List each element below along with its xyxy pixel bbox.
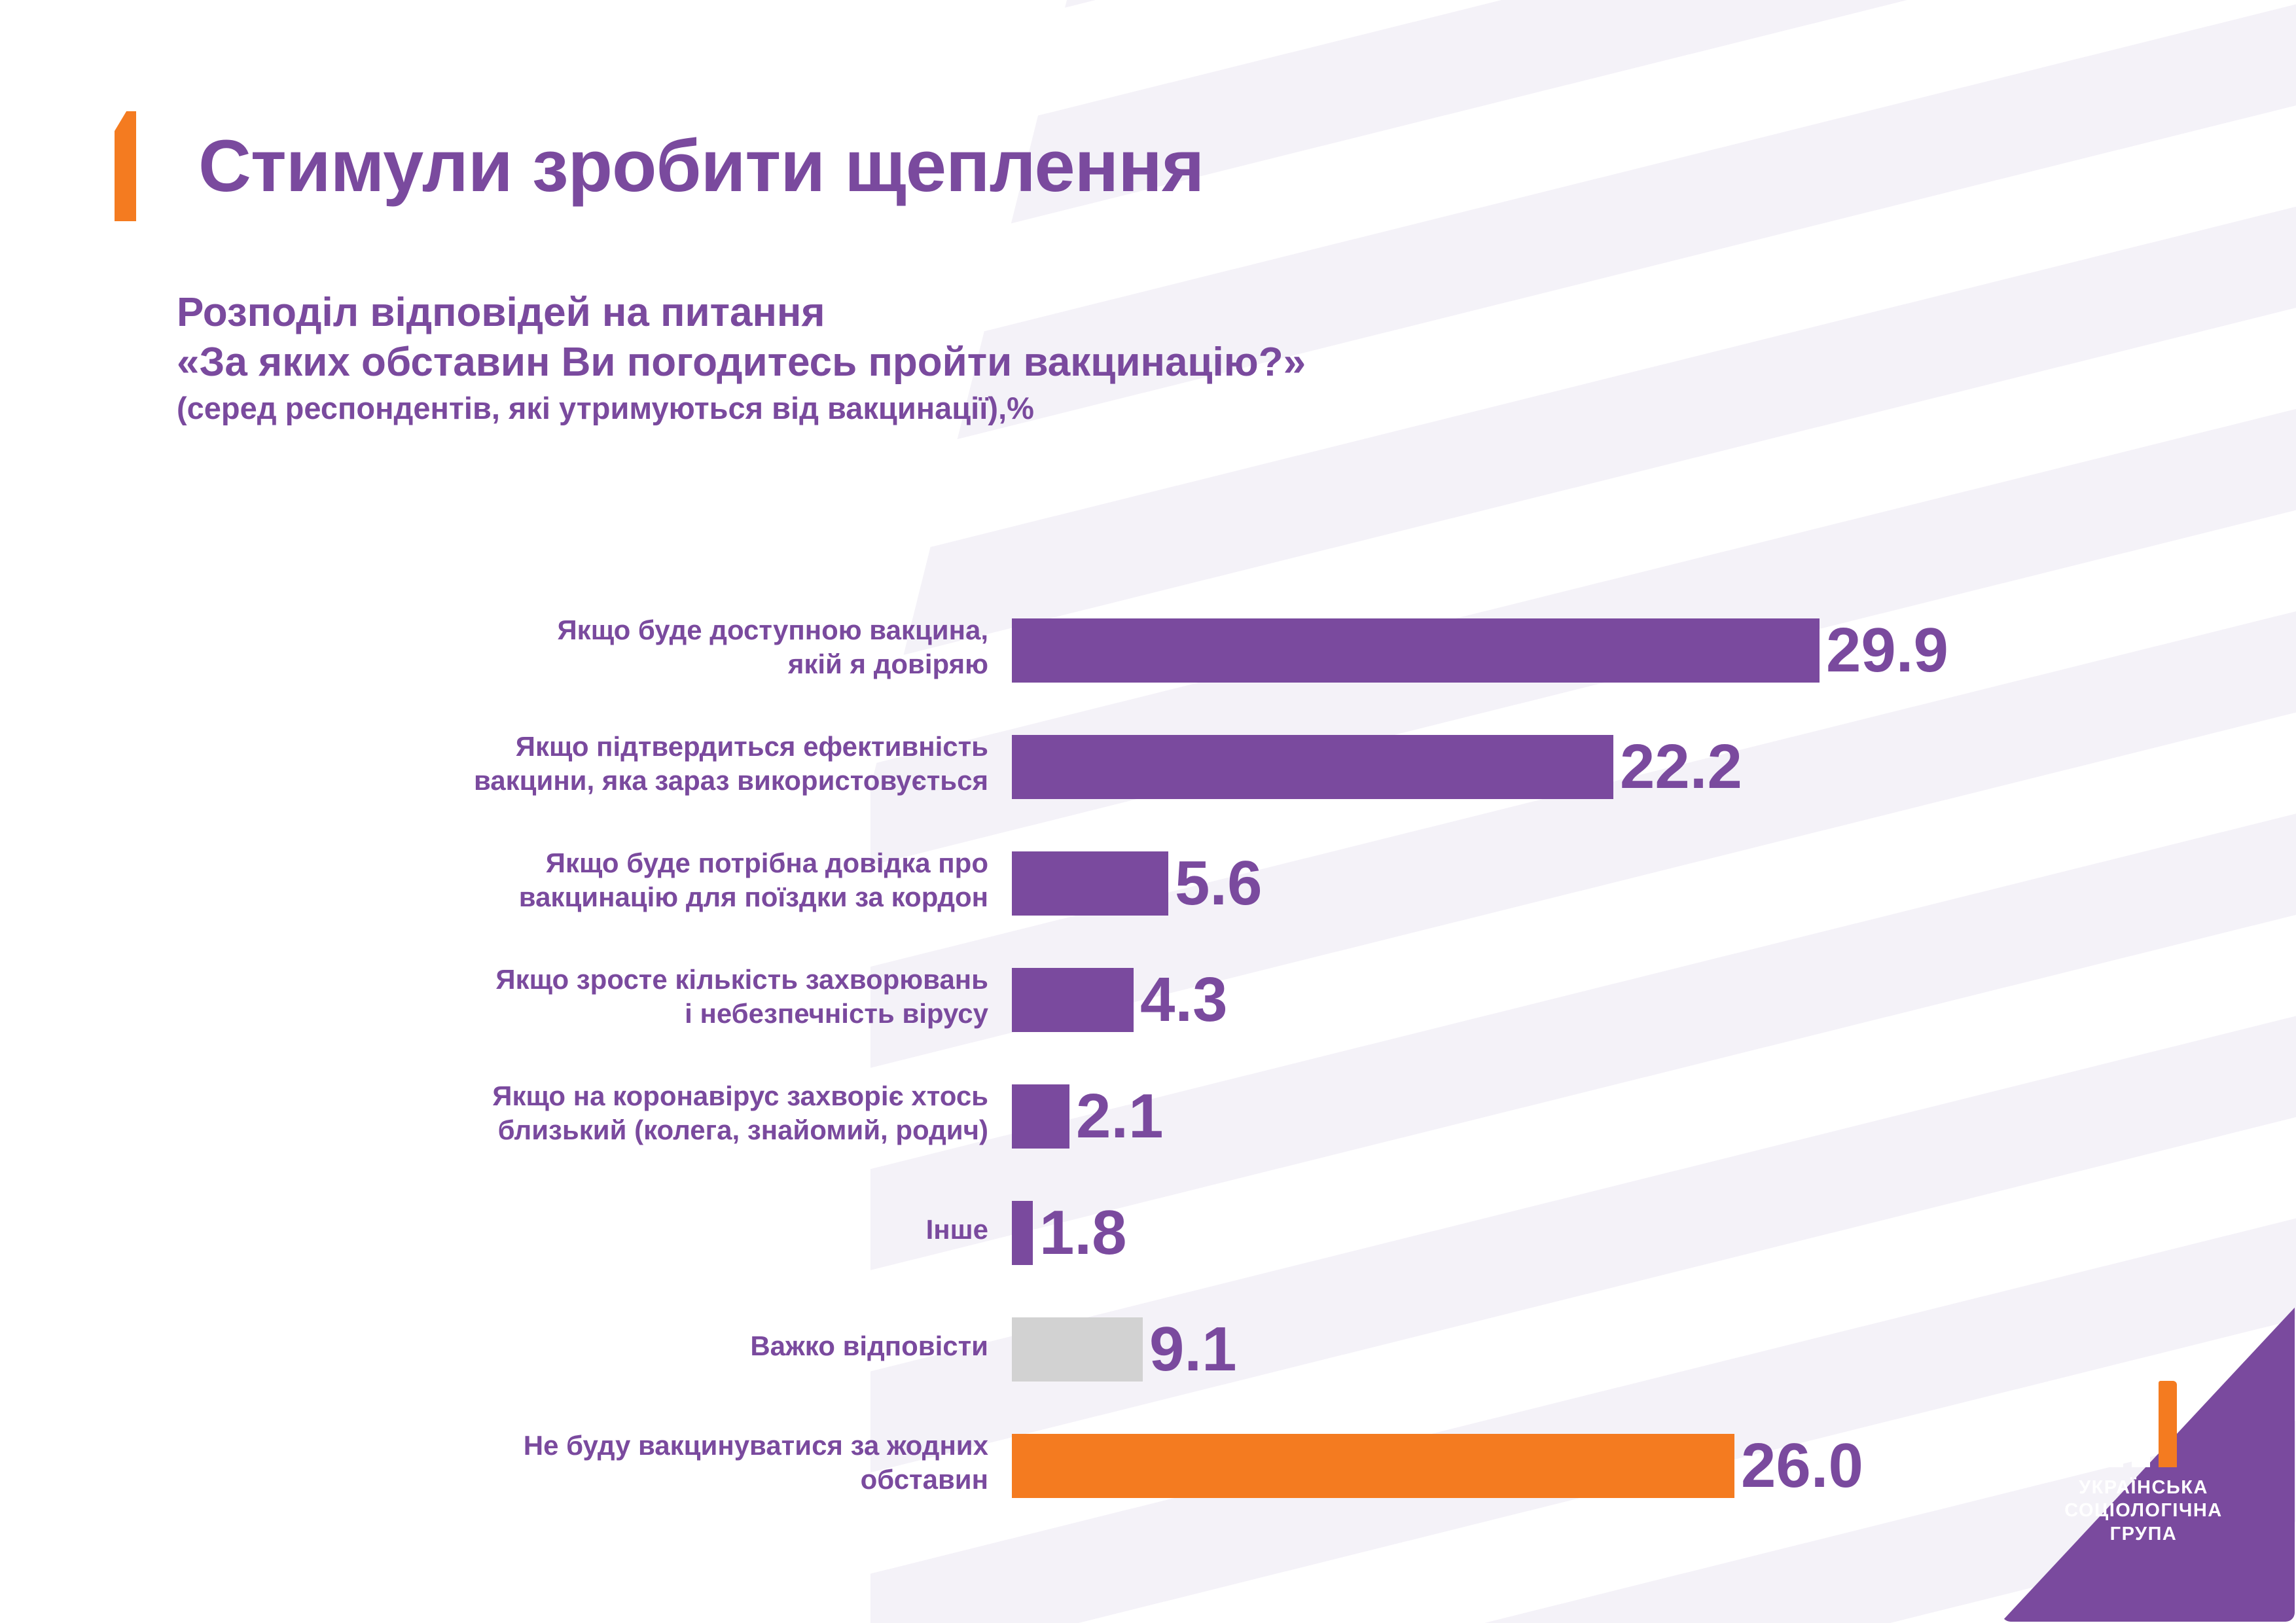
bar-category-label-line: вакцинацію для поїздки за кордон (281, 880, 988, 914)
title-row: Стимули зробити щеплення (115, 111, 1204, 221)
logo-bar-chart-icon (2105, 1381, 2177, 1467)
bar-value-label: 26.0 (1741, 1435, 1863, 1497)
bar-row: Якщо на коронавірус захворіє хтосьблизьк… (0, 1058, 2296, 1175)
bar-row: Інше1.8 (0, 1175, 2296, 1291)
subtitle-line-1: Розподіл відповідей на питання (177, 288, 1306, 338)
bar-track: 29.9 (1012, 618, 1948, 683)
bar (1012, 968, 1134, 1032)
bar-row: Важко відповісти9.1 (0, 1291, 2296, 1408)
bar (1012, 1434, 1734, 1498)
bar-value-label: 9.1 (1149, 1318, 1236, 1381)
bar-category-label: Якщо буде потрібна довідка провакцинацію… (281, 846, 988, 914)
bar-value-label: 22.2 (1620, 736, 1742, 798)
bar-category-label: Не буду вакцинуватися за жоднихобставин (281, 1429, 988, 1497)
bar (1012, 618, 1820, 683)
bar-track: 2.1 (1012, 1084, 1163, 1149)
subtitle-block: Розподіл відповідей на питання «За яких … (177, 288, 1306, 428)
bar-row: Якщо зросте кількість захворюваньі небез… (0, 942, 2296, 1058)
bar-category-label: Якщо підтвердиться ефективністьвакцини, … (281, 730, 988, 798)
bar-value-label: 1.8 (1039, 1202, 1126, 1264)
bar-category-label-line: Інше (281, 1213, 988, 1247)
bar-category-label-line: Не буду вакцинуватися за жодних (281, 1429, 988, 1463)
logo-bar-1 (2105, 1421, 2123, 1467)
orange-accent-tick-icon (115, 111, 136, 221)
logo-bar-3 (2159, 1381, 2177, 1467)
bar-value-label: 29.9 (1826, 619, 1948, 682)
bar-track: 26.0 (1012, 1434, 1863, 1498)
bar-value-label: 2.1 (1076, 1085, 1163, 1148)
logo-text: УКРАЇНСЬКА СОЦІОЛОГІЧНА ГРУПА (2001, 1476, 2295, 1546)
bar-track: 22.2 (1012, 735, 1742, 799)
bar-category-label-line: Якщо на коронавірус захворіє хтось (281, 1079, 988, 1113)
bar-category-label-line: Якщо буде потрібна довідка про (281, 846, 988, 880)
subtitle-line-2: «За яких обставин Ви погодитесь пройти в… (177, 338, 1306, 387)
bar-category-label-line: якій я довіряю (281, 647, 988, 681)
logo-text-line-3: ГРУПА (2001, 1523, 2286, 1546)
bar-category-label-line: і небезпечність вірусу (281, 997, 988, 1031)
bar (1012, 1084, 1069, 1149)
logo-text-line-1: УКРАЇНСЬКА (2001, 1476, 2286, 1499)
bar-category-label-line: Якщо підтвердиться ефективність (281, 730, 988, 764)
bar-value-label: 4.3 (1140, 969, 1227, 1031)
bar-category-label-line: Важко відповісти (281, 1329, 988, 1363)
page-title: Стимули зробити щеплення (198, 130, 1204, 203)
logo-ukrainian-sociological-group: УКРАЇНСЬКА СОЦІОЛОГІЧНА ГРУПА (2001, 1308, 2295, 1622)
bar-category-label-line: Якщо буде доступною вакцина, (281, 613, 988, 647)
logo-bar-2 (2132, 1400, 2150, 1467)
bar-category-label-line: близький (колега, знайомий, родич) (281, 1113, 988, 1147)
bar (1012, 851, 1168, 916)
bar-category-label: Якщо буде доступною вакцина,якій я довір… (281, 613, 988, 681)
bar-row: Якщо буде доступною вакцина,якій я довір… (0, 592, 2296, 709)
infographic-slide: Стимули зробити щеплення Розподіл відпов… (0, 0, 2296, 1623)
bar-category-label: Якщо зросте кількість захворюваньі небез… (281, 963, 988, 1031)
logo-text-line-2: СОЦІОЛОГІЧНА (2001, 1499, 2286, 1522)
subtitle-line-3: (серед респондентів, які утримуються від… (177, 389, 1306, 428)
bar-category-label-line: Якщо зросте кількість захворювань (281, 963, 988, 997)
bar-track: 5.6 (1012, 851, 1262, 916)
bar-category-label: Інше (281, 1213, 988, 1247)
bar-category-label: Важко відповісти (281, 1329, 988, 1363)
bar-row: Якщо буде потрібна довідка провакцинацію… (0, 825, 2296, 942)
bar-value-label: 5.6 (1175, 852, 1262, 915)
bar-category-label-line: вакцини, яка зараз використовується (281, 764, 988, 798)
bar-row: Якщо підтвердиться ефективністьвакцини, … (0, 709, 2296, 825)
bar-category-label-line: обставин (281, 1463, 988, 1497)
bar-track: 9.1 (1012, 1317, 1236, 1382)
bar (1012, 1201, 1033, 1265)
bar-category-label: Якщо на коронавірус захворіє хтосьблизьк… (281, 1079, 988, 1147)
bar-track: 1.8 (1012, 1201, 1126, 1265)
bar (1012, 735, 1613, 799)
bar-row: Не буду вакцинуватися за жоднихобставин2… (0, 1408, 2296, 1524)
bar-track: 4.3 (1012, 968, 1227, 1032)
bar (1012, 1317, 1143, 1382)
